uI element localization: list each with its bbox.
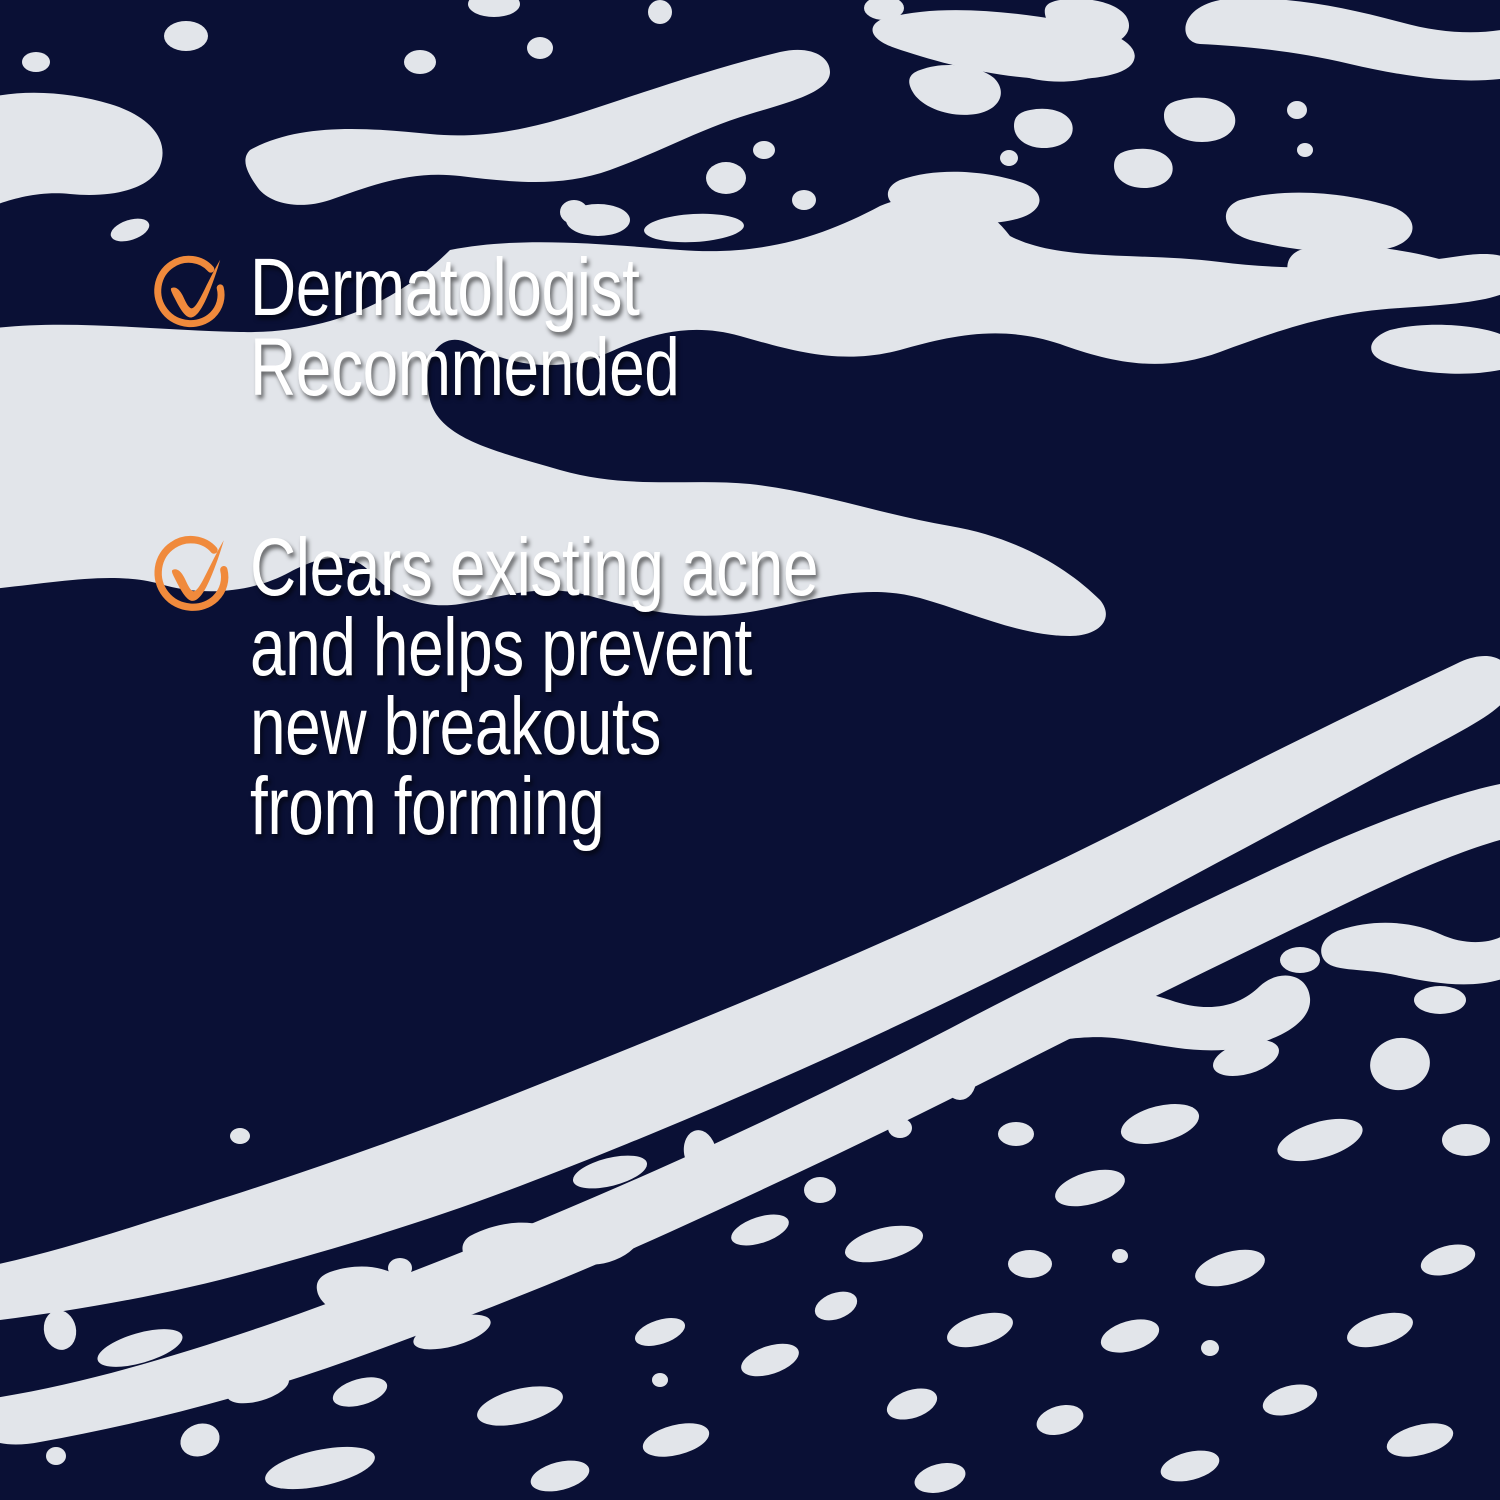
feature-bullet-clears-acne: Clears existing acne and helps prevent n… (150, 528, 978, 846)
product-feature-panel: Dermatologist Recommended Clears existin… (0, 0, 1500, 1500)
check-circle-icon (150, 252, 228, 330)
feature-bullet-dermatologist: Dermatologist Recommended (150, 248, 801, 407)
feature-bullet-text: Dermatologist Recommended (250, 248, 679, 407)
check-circle-icon (150, 532, 232, 614)
feature-bullet-list: Dermatologist Recommended Clears existin… (0, 0, 1500, 1500)
feature-bullet-text: Clears existing acne and helps prevent n… (250, 528, 818, 846)
